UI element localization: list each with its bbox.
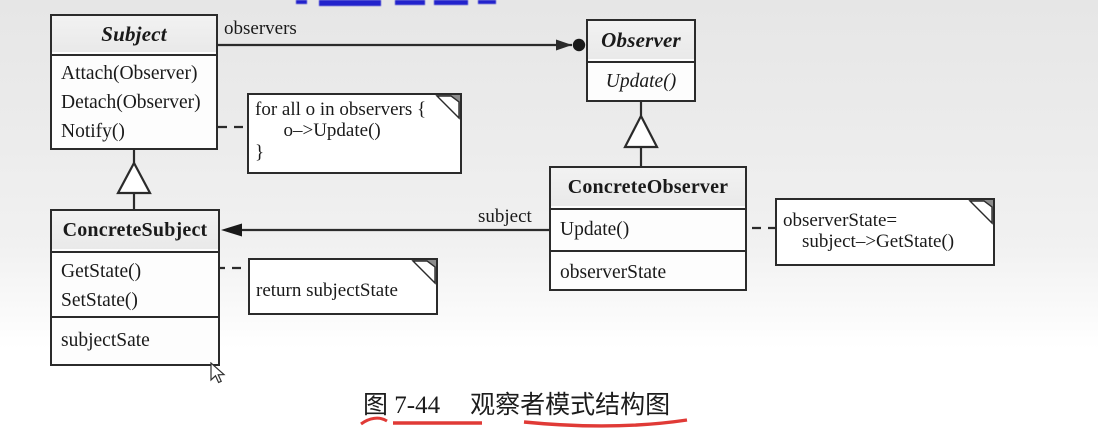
arrowhead-subject	[221, 224, 242, 237]
class-operations-compartment: Update()	[551, 208, 745, 250]
underline-mark-3	[524, 420, 687, 426]
operation-getstate: GetState()	[52, 257, 218, 286]
class-name-observer: Observer	[588, 21, 694, 59]
note-notify[interactable]: for all o in observers { o–>Update() }	[247, 93, 462, 174]
note-update-text: observerState= subject–>GetState()	[777, 200, 993, 256]
class-name-compartment: ConcreteObserver	[551, 168, 745, 208]
association-end-dot	[573, 39, 585, 51]
class-name-compartment: ConcreteSubject	[52, 211, 218, 251]
note-getstate-text: return subjectState	[250, 260, 436, 304]
operation-update: Update()	[588, 63, 694, 100]
generalization-triangle-observer	[625, 116, 657, 147]
mouse-cursor	[209, 362, 227, 386]
caption-underline-layer	[355, 410, 695, 440]
class-box-observer[interactable]: Observer Update()	[586, 19, 696, 102]
note-fold-icon	[435, 94, 461, 120]
note-getstate[interactable]: return subjectState	[248, 258, 438, 315]
class-name-concrete-observer: ConcreteObserver	[551, 168, 745, 206]
attribute-subject-state: subjectSate	[52, 318, 218, 364]
class-name-subject: Subject	[52, 16, 216, 52]
class-box-subject[interactable]: Subject Attach(Observer) Detach(Observer…	[50, 14, 218, 150]
class-operations-compartment: Update()	[588, 61, 694, 100]
note-fold-icon	[968, 199, 994, 225]
operation-setstate: SetState()	[52, 286, 218, 315]
generalization-triangle-subject	[118, 163, 150, 193]
note-update[interactable]: observerState= subject–>GetState()	[775, 198, 995, 266]
class-attributes-compartment: subjectSate	[52, 316, 218, 364]
class-attributes-compartment: observerState	[551, 250, 745, 293]
diagram-page: Subject Attach(Observer) Detach(Observer…	[0, 0, 1098, 447]
class-box-concrete-observer[interactable]: ConcreteObserver Update() observerState	[549, 166, 747, 291]
class-name-compartment: Observer	[588, 21, 694, 61]
class-operations-compartment: Attach(Observer) Detach(Observer) Notify…	[52, 54, 216, 148]
class-name-concrete-subject: ConcreteSubject	[52, 211, 218, 249]
operation-notify: Notify()	[52, 117, 216, 146]
edge-label-observers: observers	[224, 18, 297, 40]
class-box-concrete-subject[interactable]: ConcreteSubject GetState() SetState() su…	[50, 209, 220, 366]
operation-attach: Attach(Observer)	[52, 59, 216, 88]
arrowhead-observers	[556, 40, 572, 51]
note-fold-icon	[411, 259, 437, 285]
operation-detach: Detach(Observer)	[52, 88, 216, 117]
class-name-compartment: Subject	[52, 16, 216, 54]
attribute-observer-state: observerState	[551, 252, 745, 293]
operation-update: Update()	[551, 210, 745, 250]
class-operations-compartment: GetState() SetState()	[52, 251, 218, 316]
underline-mark-1	[361, 418, 387, 424]
note-notify-text: for all o in observers { o–>Update() }	[249, 95, 460, 166]
edge-label-subject: subject	[478, 206, 532, 228]
